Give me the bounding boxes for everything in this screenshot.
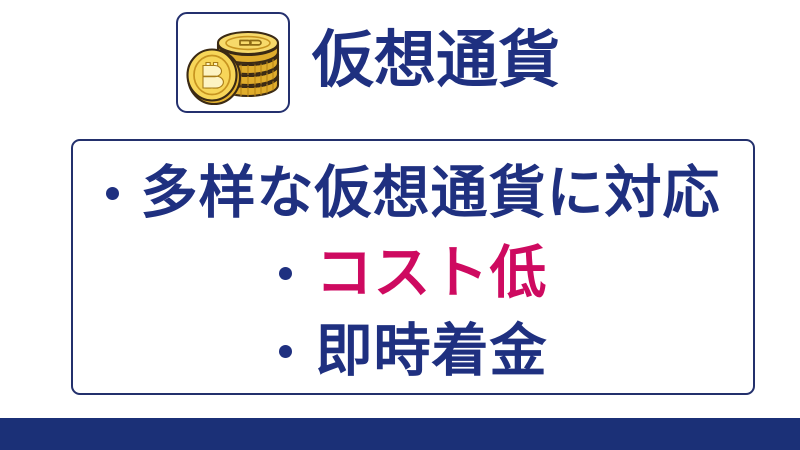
list-item-label: コスト低 <box>316 245 548 302</box>
list-item-label: 多样な仮想通貨に対応 <box>141 165 721 222</box>
list-item: 多样な仮想通貨に対応 <box>73 155 753 231</box>
slide-header: 仮想通貨 <box>176 8 736 116</box>
bullet-dot-icon <box>279 267 292 280</box>
feature-list-box: 多样な仮想通貨に対応 コスト低 即時着金 <box>71 139 755 395</box>
slide-canvas: 仮想通貨 多样な仮想通貨に対応 コスト低 即時着金 <box>0 0 800 450</box>
footer-accent-bar <box>0 418 800 450</box>
icon-frame <box>176 12 290 113</box>
page-title: 仮想通貨 <box>312 29 560 91</box>
list-item: 即時着金 <box>73 313 753 389</box>
list-item-label: 即時着金 <box>316 323 548 380</box>
list-item: コスト低 <box>73 235 753 311</box>
bullet-dot-icon <box>106 187 119 200</box>
bullet-dot-icon <box>279 345 292 358</box>
